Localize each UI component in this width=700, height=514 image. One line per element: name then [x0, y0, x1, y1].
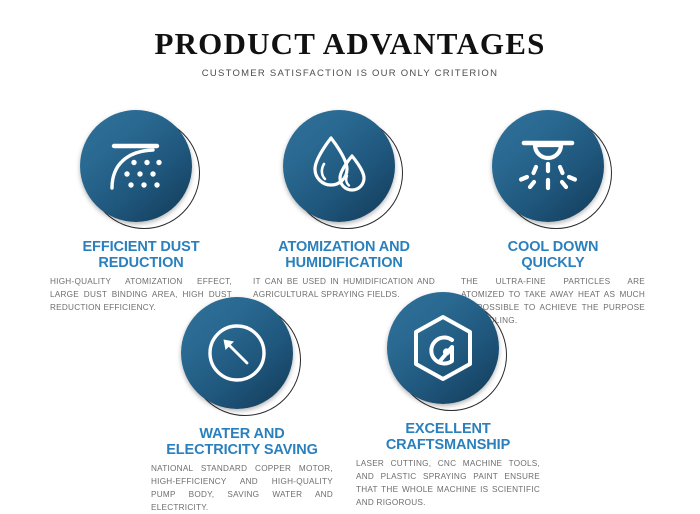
- feature-card-craftsmanship: EXCELLENT CRAFTSMANSHIP LASER CUTTING, C…: [355, 292, 541, 509]
- gauge-meter-icon: [205, 321, 269, 385]
- badge-disc: [283, 110, 395, 222]
- feature-title: EFFICIENT DUST REDUCTION: [48, 239, 234, 271]
- feature-card-atomization: ATOMIZATION AND HUMIDIFICATION IT CAN BE…: [251, 110, 437, 302]
- page-subtitle: CUSTOMER SATISFACTION IS OUR ONLY CRITER…: [0, 68, 700, 79]
- badge-craftsmanship: [387, 292, 509, 412]
- hexagon-craft-icon: [410, 313, 476, 383]
- badge-water-electricity-saving: [181, 297, 303, 417]
- feature-card-water-electricity-saving: WATER AND ELECTRICITY SAVING NATIONAL ST…: [149, 297, 335, 514]
- feature-description: LASER CUTTING, CNC MACHINE TOOLS, AND PL…: [355, 458, 541, 509]
- feature-title: COOL DOWN QUICKLY: [460, 239, 646, 271]
- header: PRODUCT ADVANTAGES CUSTOMER SATISFACTION…: [0, 28, 700, 79]
- badge-disc: [492, 110, 604, 222]
- page-title: PRODUCT ADVANTAGES: [0, 28, 700, 61]
- badge-disc: [387, 292, 499, 404]
- badge-disc: [181, 297, 293, 409]
- dust-reduction-icon: [103, 137, 169, 195]
- feature-title: ATOMIZATION AND HUMIDIFICATION: [251, 239, 437, 271]
- infographic-page: PRODUCT ADVANTAGES CUSTOMER SATISFACTION…: [0, 0, 700, 509]
- feature-card-dust-reduction: EFFICIENT DUST REDUCTION HIGH-QUALITY AT…: [48, 110, 234, 315]
- water-drops-icon: [307, 134, 371, 198]
- badge-cool-down: [492, 110, 614, 230]
- feature-description: NATIONAL STANDARD COPPER MOTOR, HIGH-EFF…: [149, 463, 335, 514]
- feature-title: EXCELLENT CRAFTSMANSHIP: [355, 421, 541, 453]
- badge-atomization: [283, 110, 405, 230]
- sprinkler-icon: [514, 135, 582, 197]
- badge-disc: [80, 110, 192, 222]
- feature-title: WATER AND ELECTRICITY SAVING: [149, 426, 335, 458]
- badge-dust-reduction: [80, 110, 202, 230]
